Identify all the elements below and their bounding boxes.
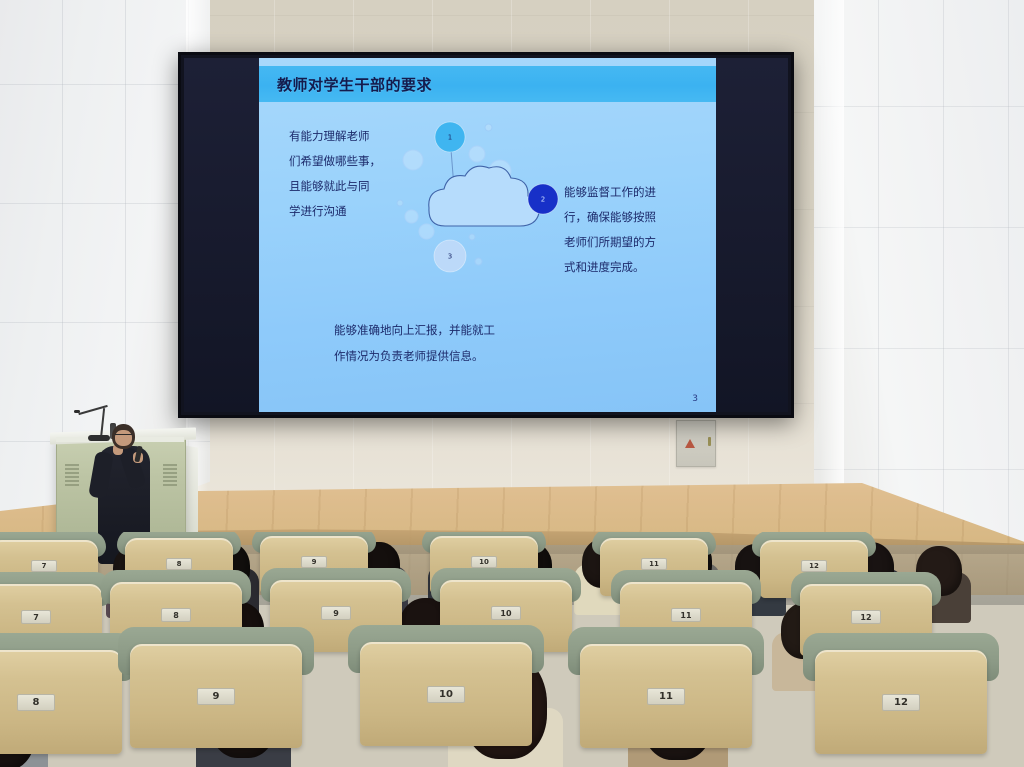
slide-page-number: 3 (692, 394, 698, 404)
presentation-slide: 教师对学生干部的要求 有能力理解老师 们希望做哪些事， 且能够就此与同 学进行沟… (259, 58, 716, 412)
auditorium-seat: 10 (360, 642, 532, 746)
diagram-node: 2 (528, 184, 558, 214)
warning-triangle-icon (685, 439, 695, 448)
seat-number-plate: 9 (321, 606, 351, 620)
podium-vent-right (163, 464, 177, 486)
panel-handle-icon (708, 437, 711, 446)
slide-title-bar: 教师对学生干部的要求 (259, 66, 716, 102)
seat-number-plate: 10 (427, 686, 465, 703)
slide-text-right: 能够监督工作的进 行，确保能够按照 老师们所期望的方 式和进度完成。 (564, 180, 684, 280)
letterbox-left (184, 58, 259, 412)
diagram-svg: 123 (389, 112, 579, 322)
podium-vent-left (65, 464, 79, 486)
decor-bubble (405, 210, 418, 223)
lecture-hall-photo: 教师对学生干部的要求 有能力理解老师 们希望做哪些事， 且能够就此与同 学进行沟… (0, 0, 1024, 767)
seat-number-plate: 10 (471, 556, 497, 568)
projection-screen: 教师对学生干部的要求 有能力理解老师 们希望做哪些事， 且能够就此与同 学进行沟… (178, 52, 794, 418)
decor-bubble (403, 150, 423, 170)
seat-number-plate: 11 (641, 558, 667, 570)
screen-surface: 教师对学生干部的要求 有能力理解老师 们希望做哪些事， 且能够就此与同 学进行沟… (184, 58, 788, 412)
diagram-node: 3 (434, 240, 466, 272)
audience-area: 78910111278910111289101112 (0, 532, 1024, 767)
diagram-node-label: 2 (541, 196, 545, 204)
slide-text-bottom: 能够准确地向上汇报，并能就工 作情况为负责老师提供信息。 (334, 317, 554, 369)
slide-body: 有能力理解老师 们希望做哪些事， 且能够就此与同 学进行沟通 能够监督工作的进 … (259, 102, 716, 412)
seat-number-plate: 8 (17, 694, 55, 711)
seat-number-plate: 12 (851, 610, 881, 624)
seat-number-plate: 8 (166, 558, 192, 570)
seat-number-plate: 12 (801, 560, 827, 572)
glasses-icon (115, 434, 132, 438)
seat-number-plate: 10 (491, 606, 521, 620)
decor-bubble (485, 124, 492, 131)
diagram-node-label: 1 (448, 134, 452, 142)
decor-bubble (419, 224, 434, 239)
electrical-panel (676, 420, 716, 467)
diagram-node: 1 (435, 122, 465, 152)
seat-number-plate: 7 (31, 560, 57, 572)
decor-bubble (469, 146, 485, 162)
cloud-bubble-diagram: 123 (389, 112, 579, 322)
gooseneck-mic-head-icon (74, 410, 80, 413)
decor-bubble (397, 200, 403, 206)
speaker-face (115, 430, 132, 446)
slide-title: 教师对学生干部的要求 (277, 74, 432, 95)
diagram-node-label: 3 (448, 253, 452, 261)
auditorium-seat: 8 (0, 650, 122, 754)
gooseneck-mic-base (88, 435, 110, 441)
decor-bubble (469, 234, 475, 240)
seat-number-plate: 7 (21, 610, 51, 624)
seat-number-plate: 11 (671, 608, 701, 622)
auditorium-seat: 12 (815, 650, 987, 754)
letterbox-right (716, 58, 788, 412)
seat-number-plate: 12 (882, 694, 920, 711)
seat-number-plate: 9 (197, 688, 235, 705)
cloud-shape (429, 166, 540, 226)
seat-number-plate: 8 (161, 608, 191, 622)
auditorium-seat: 9 (130, 644, 302, 748)
seat-number-plate: 11 (647, 688, 685, 705)
wall-corner-right (820, 0, 844, 540)
auditorium-seat: 11 (580, 644, 752, 748)
seat-number-plate: 9 (301, 556, 327, 568)
decor-bubble (475, 258, 482, 265)
